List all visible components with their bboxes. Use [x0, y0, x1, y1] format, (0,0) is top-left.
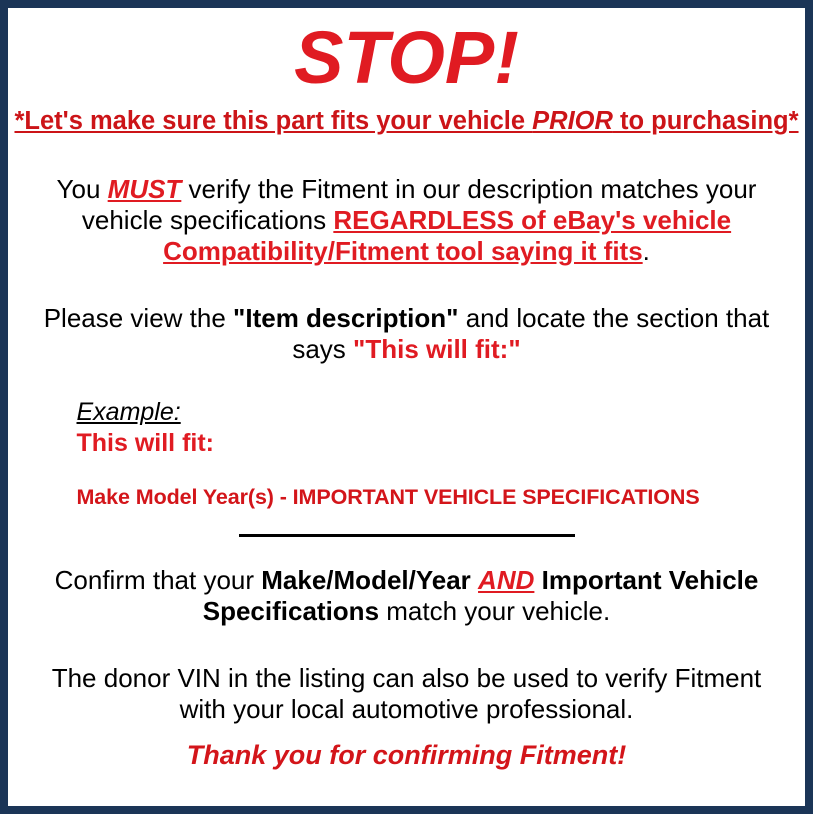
item-description-label: "Item description": [233, 303, 458, 333]
paragraph-donor-vin: The donor VIN in the listing can also be…: [29, 663, 785, 725]
thank-you-line: Thank you for confirming Fitment!: [187, 739, 627, 771]
subtitle-line: *Let's make sure this part fits your veh…: [14, 106, 798, 136]
this-will-fit-quoted: "This will fit:": [353, 334, 521, 364]
must-emphasis: MUST: [108, 174, 182, 204]
paragraph-item-description: Please view the "Item description" and l…: [29, 303, 785, 365]
confirm-space-1: [471, 565, 478, 595]
confirm-text-part1: Confirm that your: [55, 565, 262, 595]
section-divider: [239, 534, 575, 537]
paragraph-must-verify: You MUST verify the Fitment in our descr…: [29, 174, 785, 267]
fitment-notice-panel: STOP! *Let's make sure this part fits yo…: [0, 0, 813, 814]
confirm-space-2: [534, 565, 541, 595]
view-text-part1: Please view the: [44, 303, 233, 333]
stop-title: STOP!: [294, 10, 519, 106]
make-model-year-emphasis: Make/Model/Year: [261, 565, 471, 595]
must-text-part3: .: [643, 236, 650, 266]
must-text-part1: You: [57, 174, 108, 204]
divider-wrap: [29, 534, 785, 537]
subtitle-text-before: *Let's make sure this part fits your veh…: [14, 107, 532, 135]
paragraph-confirm: Confirm that your Make/Model/Year AND Im…: [29, 565, 785, 627]
example-label: Example:: [77, 397, 181, 427]
and-emphasis: AND: [478, 565, 534, 595]
example-spec-line: Make Model Year(s) - IMPORTANT VEHICLE S…: [77, 484, 785, 510]
confirm-text-part2: match your vehicle.: [379, 596, 610, 626]
example-this-will-fit: This will fit:: [77, 429, 785, 458]
subtitle-text-after: to purchasing*: [613, 107, 799, 135]
subtitle-emphasis-prior: PRIOR: [532, 107, 613, 135]
example-block: Example: This will fit: Make Model Year(…: [29, 397, 785, 510]
